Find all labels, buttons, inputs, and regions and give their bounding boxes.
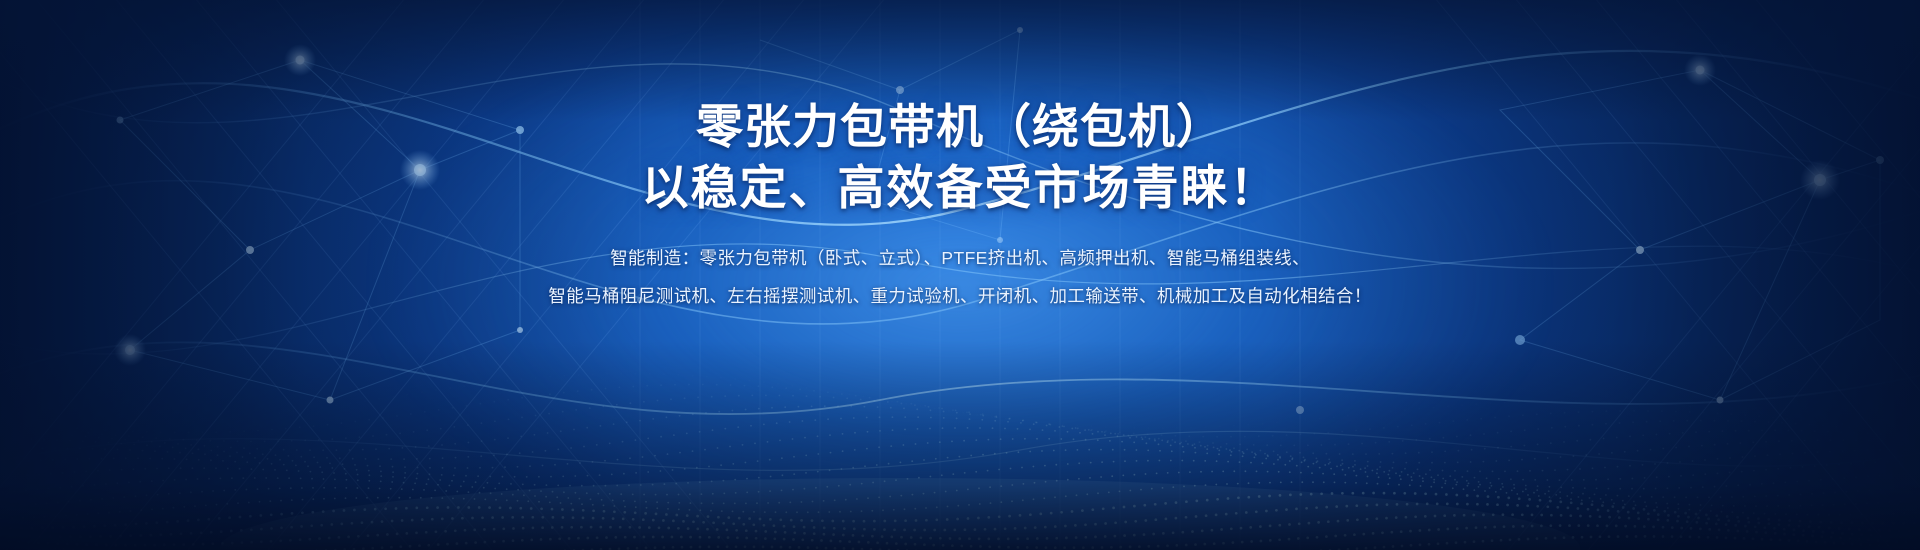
subtitle-line-2: 智能马桶阻尼测试机、左右摇摆测试机、重力试验机、开闭机、加工输送带、机械加工及自…	[548, 278, 1371, 316]
subtitle-line-1: 智能制造：零张力包带机（卧式、立式）、PTFE挤出机、高频押出机、智能马桶组装线…	[548, 240, 1371, 278]
headline-block: 零张力包带机（绕包机） 以稳定、高效备受市场青睐！	[642, 96, 1279, 218]
headline-line-1: 零张力包带机（绕包机）	[642, 96, 1279, 157]
subtitle-block: 智能制造：零张力包带机（卧式、立式）、PTFE挤出机、高频押出机、智能马桶组装线…	[548, 240, 1371, 315]
hero-banner: 零张力包带机（绕包机） 以稳定、高效备受市场青睐！ 智能制造：零张力包带机（卧式…	[0, 0, 1920, 550]
banner-content: 零张力包带机（绕包机） 以稳定、高效备受市场青睐！ 智能制造：零张力包带机（卧式…	[0, 0, 1920, 550]
headline-line-2: 以稳定、高效备受市场青睐！	[642, 157, 1279, 218]
